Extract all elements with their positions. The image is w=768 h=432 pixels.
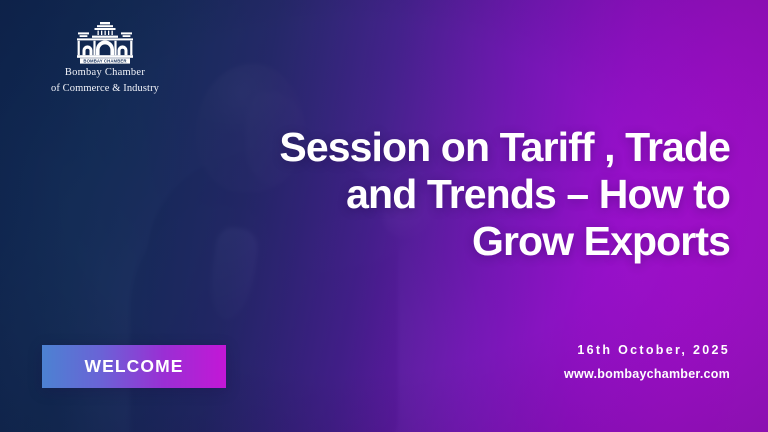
banner-content: BOMBAY CHAMBER Bombay Chamber of Commerc… [0, 0, 768, 432]
title-line-3: Grow Exports [230, 218, 730, 265]
brand-logo: BOMBAY CHAMBER Bombay Chamber of Commerc… [32, 22, 178, 95]
title-line-2: and Trends – How to [230, 171, 730, 218]
title-line-1: Session on Tariff , Trade [230, 124, 730, 171]
event-banner: BOMBAY CHAMBER Bombay Chamber of Commerc… [0, 0, 768, 432]
website-url[interactable]: www.bombaychamber.com [564, 366, 730, 382]
gateway-of-india-arch-icon: BOMBAY CHAMBER [74, 22, 136, 64]
emblem-caption: BOMBAY CHAMBER [83, 58, 127, 63]
brand-name-line-1: Bombay Chamber [32, 67, 178, 80]
welcome-badge[interactable]: WELCOME [42, 345, 226, 388]
brand-name-line-2: of Commerce & Industry [32, 83, 178, 96]
welcome-badge-label: WELCOME [84, 356, 183, 377]
page-title: Session on Tariff , Trade and Trends – H… [230, 124, 730, 265]
event-date: 16th October, 2025 [564, 341, 730, 359]
event-meta: 16th October, 2025 www.bombaychamber.com [564, 341, 730, 382]
